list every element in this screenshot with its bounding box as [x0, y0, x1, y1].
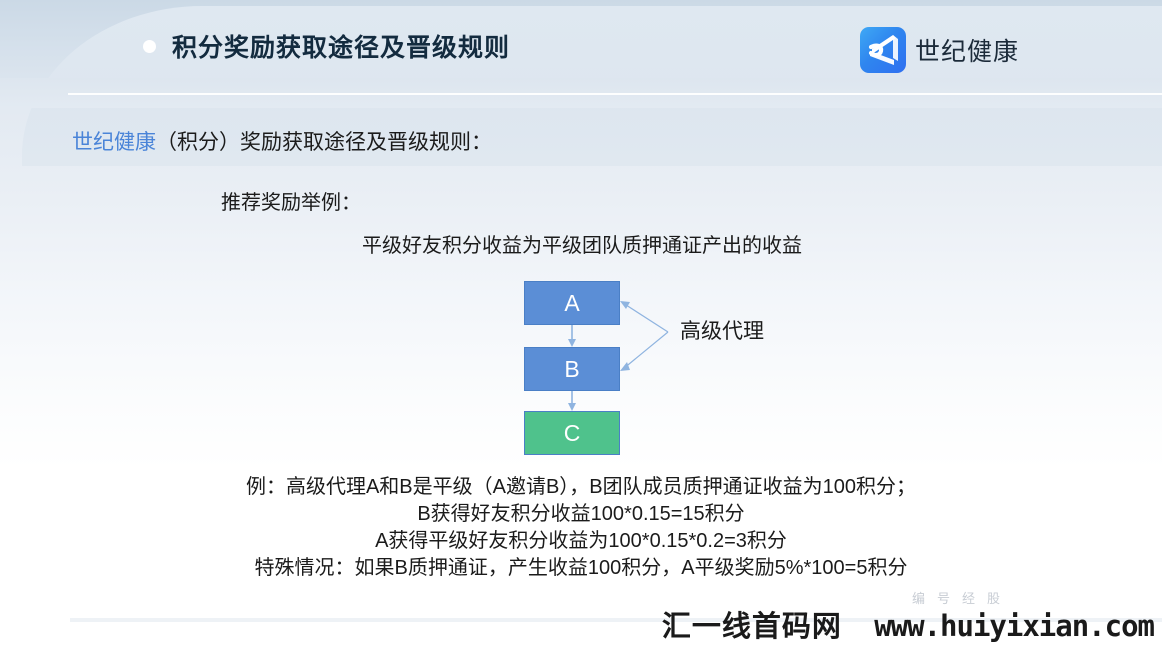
watermark-site-name: 汇一线首码网	[662, 611, 842, 643]
section-subtitle: 世纪健康（积分）奖励获取途径及晋级规则：	[72, 126, 492, 156]
page-title: 积分奖励获取途径及晋级规则	[172, 28, 510, 64]
example-line: 特殊情况：如果B质押通证，产生收益100积分，A平级奖励5%*100=5积分	[0, 555, 1162, 582]
slide-canvas: 积分奖励获取途径及晋级规则 世纪健康 世纪健康（积分）奖励获取途径及晋级规则： …	[0, 0, 1162, 651]
example-line: A获得平级好友积分收益为100*0.15*0.2=3积分	[0, 528, 1162, 555]
watermark: 汇一线首码网 www.huiyixian.com	[0, 603, 1162, 645]
example-line: B获得好友积分收益100*0.15=15积分	[0, 501, 1162, 528]
hierarchy-diagram: A B C 高级代理	[490, 272, 840, 462]
diagram-node-c: C	[524, 411, 620, 455]
bullet-dot-icon	[143, 40, 156, 53]
statement-text: 平级好友积分收益为平级团队质押通证产出的收益	[362, 229, 802, 258]
brand: 世纪健康	[860, 27, 1019, 73]
watermark-url: www.huiyixian.com	[874, 609, 1154, 643]
subtitle-rest: （积分）奖励获取途径及晋级规则：	[156, 131, 492, 154]
company-logo-icon	[860, 27, 906, 73]
diagram-node-b: B	[524, 347, 620, 391]
diagram-annotation-label: 高级代理	[680, 315, 764, 345]
subtitle-accent: 世纪健康	[72, 131, 156, 154]
example-line: 例：高级代理A和B是平级（A邀请B），B团队成员质押通证收益为100积分；	[0, 474, 1162, 501]
brand-name: 世纪健康	[915, 32, 1019, 68]
lead-text: 推荐奖励举例：	[221, 186, 361, 215]
header-divider	[68, 93, 1162, 95]
diagram-node-a: A	[524, 281, 620, 325]
example-block: 例：高级代理A和B是平级（A邀请B），B团队成员质押通证收益为100积分； B获…	[0, 474, 1162, 582]
